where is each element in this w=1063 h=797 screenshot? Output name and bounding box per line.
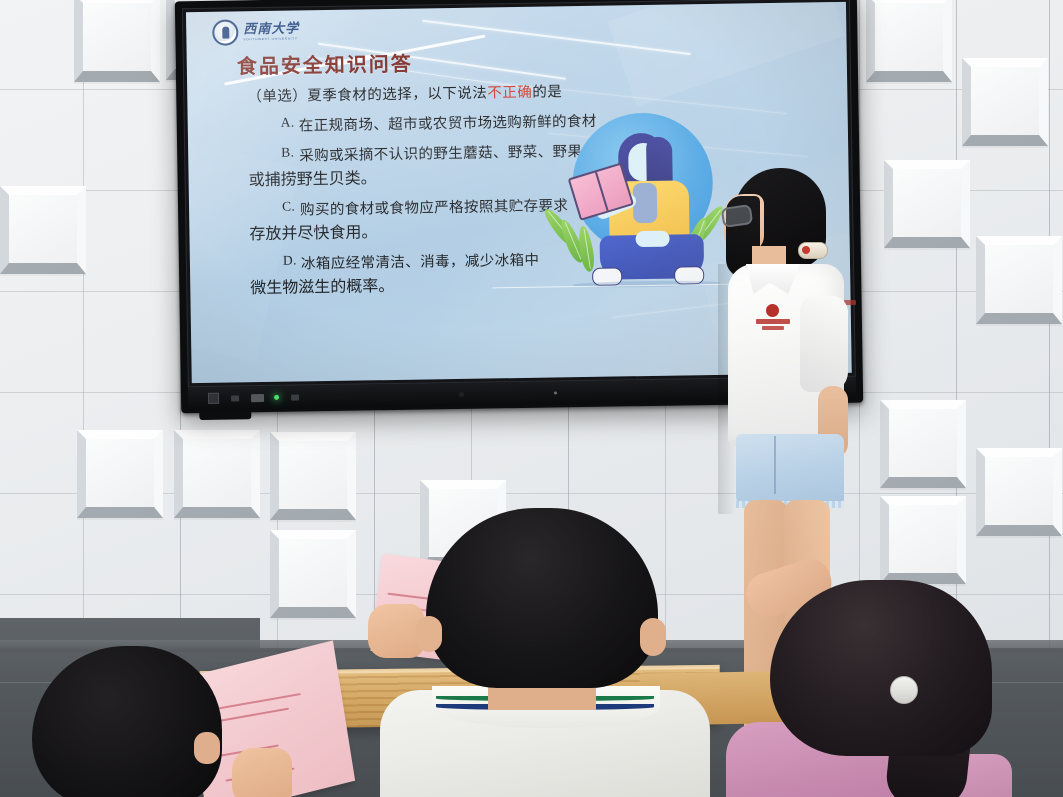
hair-clip (798, 242, 828, 259)
option-c-label: C. (282, 198, 300, 219)
university-logo: 西南大学 SOUTHWEST UNIVERSITY (212, 18, 299, 45)
decorative-bevel-tile (962, 58, 1048, 146)
decorative-bevel-tile (0, 186, 86, 274)
student-center-ear (416, 616, 442, 652)
illustration-shirt (633, 183, 658, 223)
classroom-photo-scene: 西南大学 SOUTHWEST UNIVERSITY 食品安全知识问答 （单选）夏… (0, 0, 1063, 797)
student-left (16, 636, 316, 797)
question-stem-before: （单选）夏季食材的选择，以下说法 (247, 85, 487, 105)
display-mount-foot (199, 411, 251, 420)
shirt-logo (756, 304, 790, 334)
student-center-ear (640, 618, 666, 656)
display-button[interactable] (231, 395, 239, 401)
student-right (742, 576, 1063, 797)
decorative-bevel-tile (270, 530, 356, 618)
student-center (370, 508, 730, 797)
woman-reading-book-illustration (550, 112, 731, 305)
question-stem-after: 的是 (532, 84, 562, 100)
option-d-label: D. (283, 252, 301, 273)
university-name-cn: 西南大学 (243, 22, 299, 36)
ir-sensor-icon (208, 393, 219, 404)
option-d-text: 冰箱应经常清洁、消毒，减少冰箱中 (301, 249, 540, 274)
student-left-ear (194, 732, 220, 764)
decorative-bevel-tile (976, 236, 1062, 324)
student-center-hair (426, 508, 658, 688)
option-a-label: A. (281, 114, 299, 135)
question-stem: （单选）夏季食材的选择，以下说法不正确的是 (247, 76, 823, 106)
presenter-sleeve (800, 296, 848, 392)
hair-tie (890, 676, 918, 704)
display-button[interactable] (291, 394, 299, 400)
decorative-bevel-tile (880, 400, 966, 488)
student-left-hand (232, 748, 292, 797)
shorts-seam (774, 436, 776, 494)
student-left-hair (32, 646, 222, 797)
decorative-bevel-tile (976, 448, 1062, 536)
student-right-hair (770, 580, 992, 756)
decorative-bevel-tile (270, 432, 356, 520)
option-b-text: 采购或采摘不认识的野生蘑菇、野菜、野果 (299, 140, 582, 165)
question-highlight: 不正确 (487, 85, 532, 102)
decorative-bevel-tile (884, 160, 970, 248)
decorative-bevel-tile (866, 0, 952, 82)
university-emblem-icon (212, 19, 238, 45)
slide-title: 食品安全知识问答 (237, 48, 413, 80)
brand-mark (554, 391, 557, 394)
decorative-bevel-tile (174, 430, 260, 518)
decorative-bevel-tile (880, 496, 966, 584)
option-c-text: 购买的食材或食物应严格按照其贮存要求 (300, 194, 568, 219)
power-led-indicator (274, 395, 279, 400)
presenter-denim-shorts (736, 434, 844, 508)
option-b-label: B. (281, 144, 299, 165)
decorative-bevel-tile (77, 430, 163, 518)
remote-receiver-icon (459, 392, 464, 397)
illustration-hand (635, 231, 669, 248)
university-name-en: SOUTHWEST UNIVERSITY (243, 37, 299, 41)
decorative-bevel-tile (74, 0, 160, 82)
option-a[interactable]: A. 在正规商场、超市或农贸市场选购新鲜的食材 (248, 106, 824, 136)
display-power-button[interactable] (251, 394, 264, 402)
